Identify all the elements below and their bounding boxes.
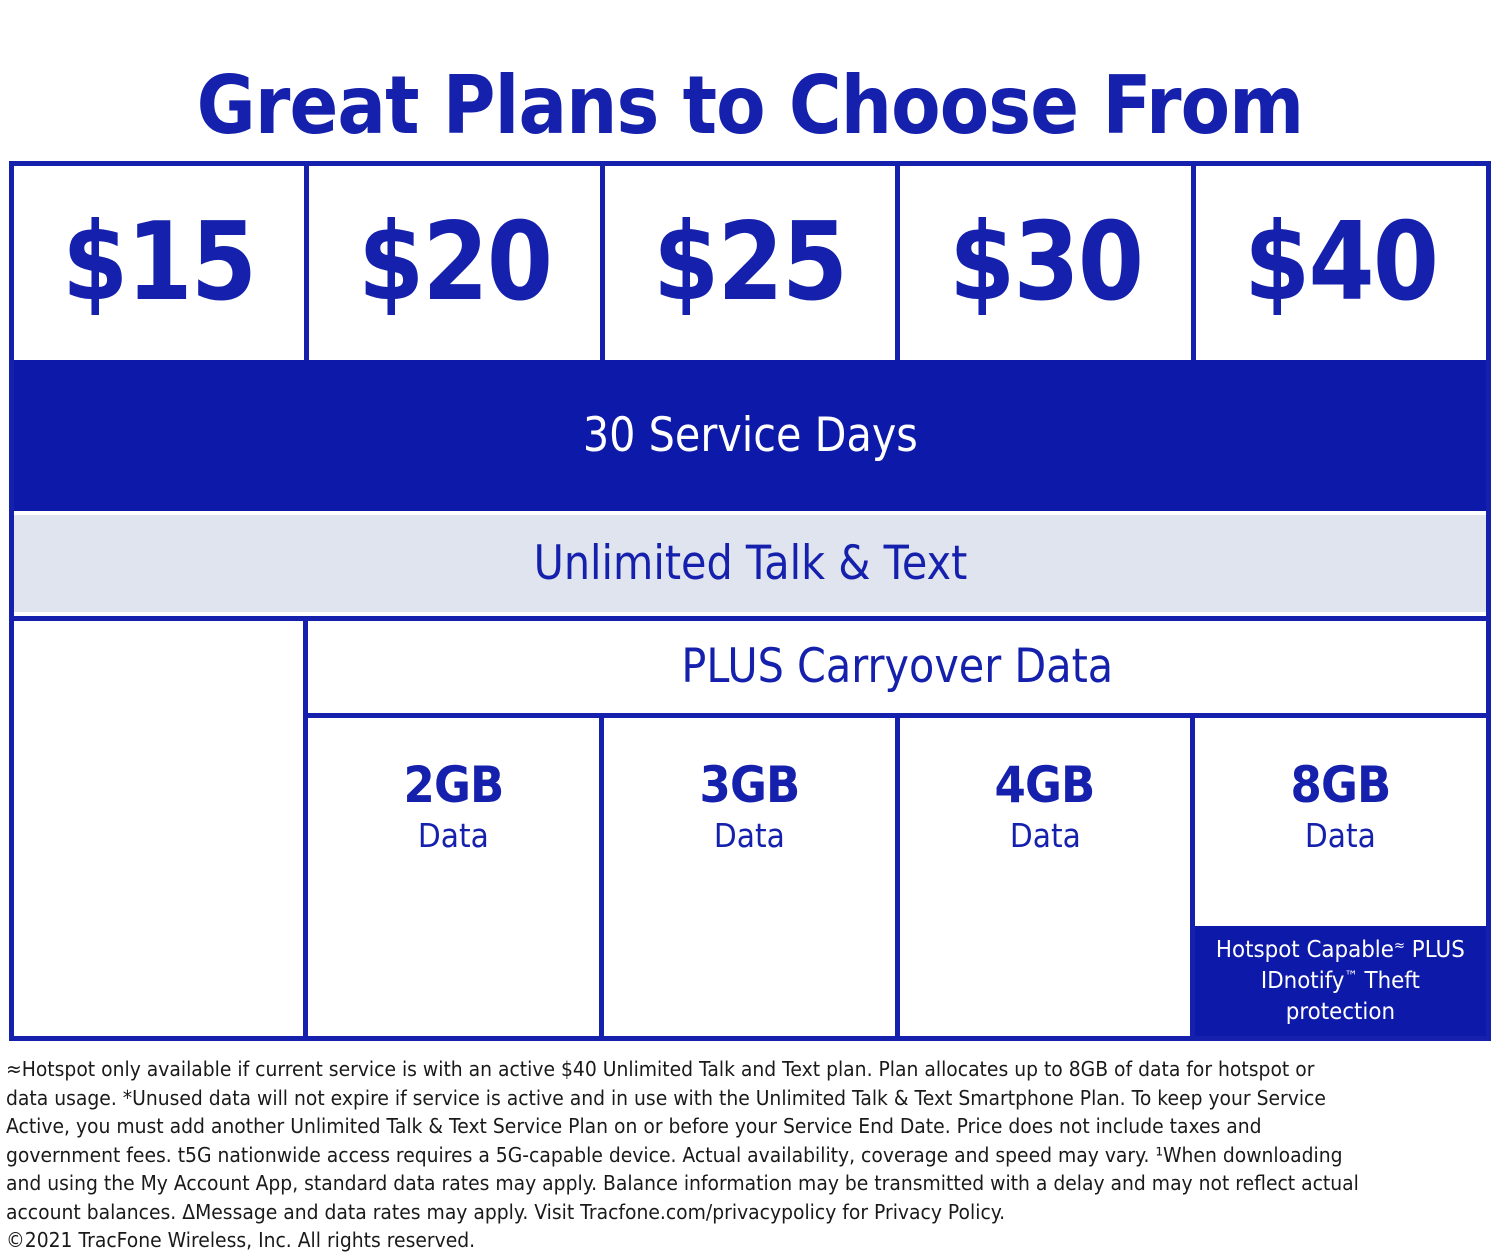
hotspot-line2-pre: IDnotify (1261, 968, 1345, 994)
footnote-copyright: ©2021 TracFone Wireless, Inc. All rights… (6, 1226, 1360, 1255)
hotspot-line1-pre: Hotspot Capable (1216, 937, 1394, 963)
page-title: Great Plans to Choose From (75, 58, 1425, 154)
price-cell-20[interactable]: $20 (309, 166, 604, 360)
data-amount-8gb: 8GB (1291, 758, 1391, 812)
data-cell-inner-3gb: 3GB Data (604, 758, 895, 856)
data-amount-2gb: 2GB (403, 758, 503, 812)
empty-cell-15-plan (14, 621, 308, 1036)
data-cell-inner-8gb: 8GB Data (1195, 758, 1486, 856)
data-label-3gb: Data (618, 816, 880, 856)
price-label-15: $15 (63, 209, 256, 317)
price-label-20: $20 (358, 209, 551, 317)
data-amount-4gb: 4GB (995, 758, 1095, 812)
data-cell-inner-2gb: 2GB Data (308, 758, 599, 856)
data-cell-4gb[interactable]: 4GB Data (900, 718, 1196, 1036)
data-cell-2gb[interactable]: 2GB Data (308, 718, 604, 1036)
data-cell-3gb[interactable]: 3GB Data (604, 718, 900, 1036)
price-cell-40[interactable]: $40 (1196, 166, 1486, 360)
unlimited-talk-text-band: Unlimited Talk & Text (14, 511, 1486, 616)
carryover-column-group: PLUS Carryover Data 2GB Data 3GB Data (308, 621, 1486, 1036)
price-label-30: $30 (949, 209, 1142, 317)
data-label-8gb: Data (1210, 816, 1472, 856)
carryover-header-label: PLUS Carryover Data (681, 641, 1113, 693)
hotspot-capable-badge: Hotspot Capable≈ PLUS IDnotify™ Theft pr… (1195, 926, 1486, 1036)
trademark-icon: ™ (1345, 968, 1358, 984)
carryover-header: PLUS Carryover Data (308, 621, 1486, 718)
service-days-label: 30 Service Days (582, 410, 917, 462)
hotspot-line1-post: PLUS (1405, 937, 1465, 963)
price-row: $15 $20 $25 $30 $40 (14, 166, 1486, 360)
data-allowance-row: 2GB Data 3GB Data 4GB Data (308, 718, 1486, 1036)
price-label-25: $25 (653, 209, 846, 317)
plan-comparison-page: Great Plans to Choose From $15 $20 $25 $… (0, 0, 1500, 1241)
carryover-section: PLUS Carryover Data 2GB Data 3GB Data (14, 616, 1486, 1036)
plan-comparison-table: $15 $20 $25 $30 $40 30 Service Days Unli… (9, 161, 1491, 1041)
data-cell-8gb[interactable]: 8GB Data Hotspot Capable≈ PLUS IDnotify™… (1195, 718, 1486, 1036)
hotspot-approx-icon: ≈ (1394, 937, 1405, 953)
price-cell-25[interactable]: $25 (605, 166, 900, 360)
price-cell-30[interactable]: $30 (900, 166, 1195, 360)
data-cell-inner-4gb: 4GB Data (900, 758, 1191, 856)
hotspot-badge-text: Hotspot Capable≈ PLUS IDnotify™ Theft pr… (1205, 935, 1475, 1028)
data-label-2gb: Data (323, 816, 585, 856)
data-label-4gb: Data (914, 816, 1176, 856)
footnote-disclaimer: ≈Hotspot only available if current servi… (6, 1055, 1360, 1255)
data-amount-3gb: 3GB (699, 758, 799, 812)
price-label-40: $40 (1244, 209, 1437, 317)
price-cell-15[interactable]: $15 (14, 166, 309, 360)
footnote-paragraph: ≈Hotspot only available if current servi… (6, 1055, 1360, 1226)
service-days-band: 30 Service Days (14, 360, 1486, 511)
unlimited-talk-text-label: Unlimited Talk & Text (533, 538, 967, 590)
